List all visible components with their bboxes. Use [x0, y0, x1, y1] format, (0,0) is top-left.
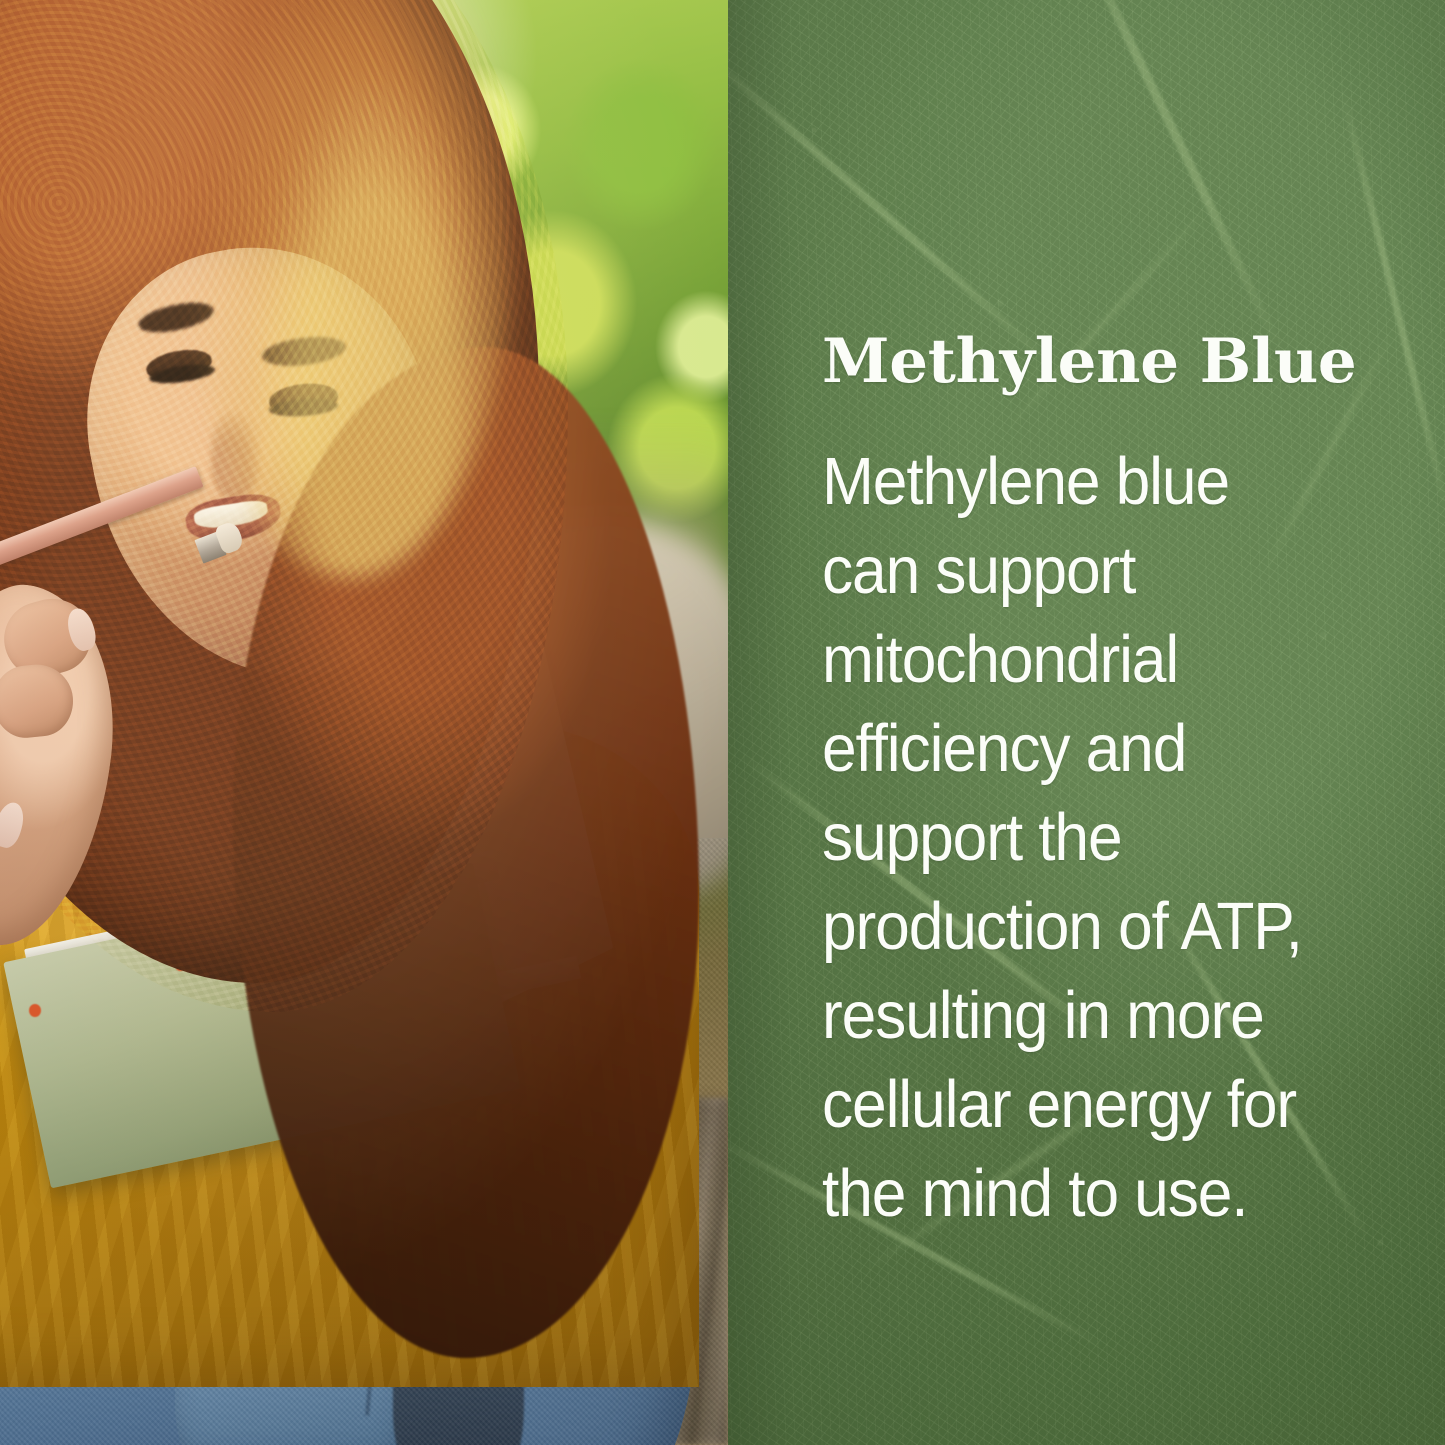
notebook-dot	[29, 1004, 41, 1017]
panel-heading: Methylene Blue	[822, 330, 1379, 393]
product-infographic-page: Methylene Blue Methylene blue can suppor…	[0, 0, 1445, 1445]
panel-body-text: Methylene blue can support mitochondrial…	[822, 437, 1340, 1238]
lifestyle-photo	[0, 0, 728, 1445]
green-leaf-panel: Methylene Blue Methylene blue can suppor…	[728, 0, 1445, 1445]
text-block: Methylene Blue Methylene blue can suppor…	[822, 330, 1379, 1238]
